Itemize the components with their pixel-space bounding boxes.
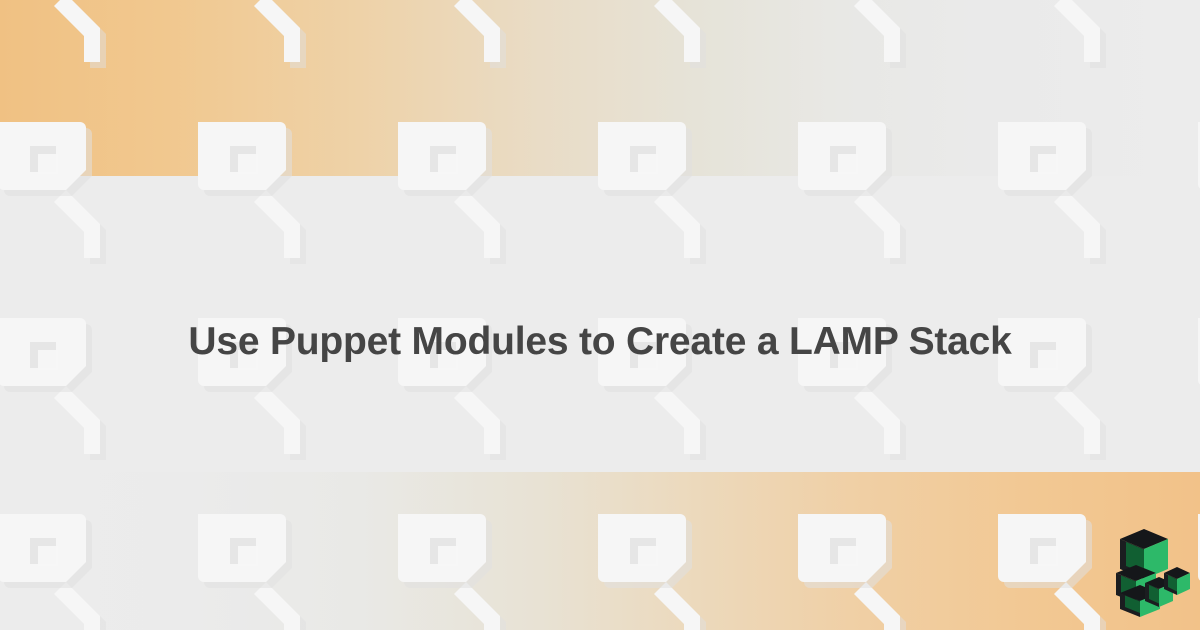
isometric-cubes-logo <box>1106 521 1196 617</box>
background-geometric-pattern <box>0 0 1200 630</box>
social-card-banner: Use Puppet Modules to Create a LAMP Stac… <box>0 0 1200 630</box>
logo-cube-small-right <box>1164 567 1190 595</box>
page-title: Use Puppet Modules to Create a LAMP Stac… <box>0 317 1200 367</box>
